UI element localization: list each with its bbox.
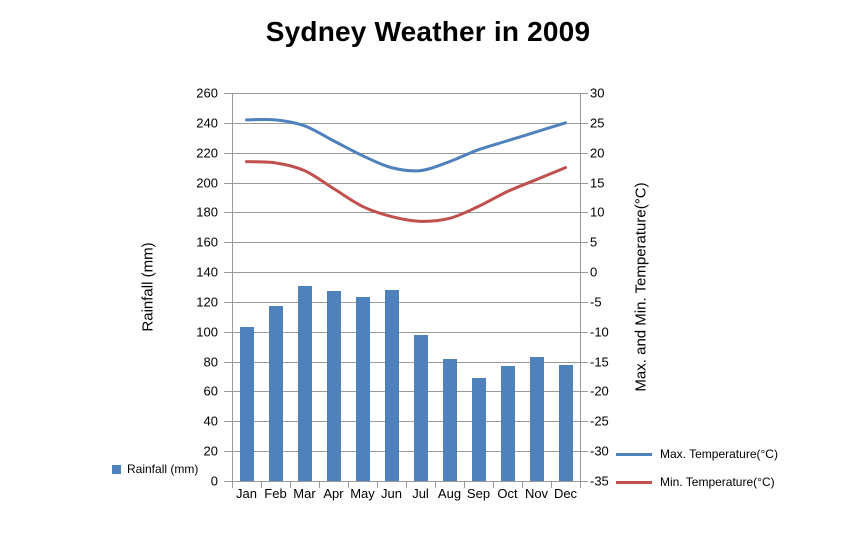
category-label: Jan xyxy=(236,486,257,501)
rainfall-bar[interactable] xyxy=(298,286,312,481)
right-axis-tick xyxy=(580,123,588,124)
right-axis-tick xyxy=(580,242,588,243)
right-axis-tick xyxy=(580,93,588,94)
right-axis-tick-label: 25 xyxy=(590,115,604,130)
right-axis-tick-label: -25 xyxy=(590,414,609,429)
left-axis-tick-label: 40 xyxy=(204,414,218,429)
category-label: Nov xyxy=(525,486,548,501)
right-axis-tick-label: -30 xyxy=(590,444,609,459)
category-tick xyxy=(406,481,407,488)
right-axis-tick xyxy=(580,153,588,154)
category-tick xyxy=(493,481,494,488)
right-axis-tick-label: 0 xyxy=(590,265,597,280)
left-axis-tick-label: 20 xyxy=(204,444,218,459)
grid-line xyxy=(232,421,580,422)
category-label: May xyxy=(350,486,375,501)
left-axis-tick xyxy=(224,272,232,273)
left-axis-tick-label: 220 xyxy=(196,145,218,160)
rainfall-bar[interactable] xyxy=(559,365,573,481)
category-label: Jul xyxy=(412,486,429,501)
right-axis-line xyxy=(580,93,581,482)
left-axis-tick xyxy=(224,391,232,392)
category-label: Sep xyxy=(467,486,490,501)
category-label: Aug xyxy=(438,486,461,501)
right-axis-tick xyxy=(580,421,588,422)
grid-line xyxy=(232,332,580,333)
legend-item-max-temperature[interactable]: Max. Temperature(°C) xyxy=(616,447,846,461)
category-tick xyxy=(348,481,349,488)
right-axis-tick-label: 5 xyxy=(590,235,597,250)
grid-line xyxy=(232,362,580,363)
grid-line xyxy=(232,93,580,94)
legend-max-temperature-label: Max. Temperature(°C) xyxy=(660,447,778,461)
grid-line xyxy=(232,212,580,213)
right-axis-tick xyxy=(580,451,588,452)
grid-line xyxy=(232,302,580,303)
rainfall-bar[interactable] xyxy=(385,290,399,481)
max-temperature-line-icon xyxy=(616,453,652,456)
grid-line xyxy=(232,242,580,243)
category-tick xyxy=(232,481,233,488)
right-axis-tick-label: -35 xyxy=(590,474,609,489)
category-label: Jun xyxy=(381,486,402,501)
category-label: Mar xyxy=(293,486,315,501)
right-axis-tick xyxy=(580,183,588,184)
left-axis-tick-label: 0 xyxy=(211,474,218,489)
right-axis-tick-label: -20 xyxy=(590,384,609,399)
grid-line xyxy=(232,391,580,392)
chart-canvas: Sydney Weather in 2009 02040608010012014… xyxy=(0,0,856,547)
rainfall-swatch-icon xyxy=(112,465,121,474)
category-tick xyxy=(551,481,552,488)
chart-title: Sydney Weather in 2009 xyxy=(0,16,856,48)
category-label: Apr xyxy=(323,486,343,501)
left-axis-tick xyxy=(224,481,232,482)
category-tick xyxy=(319,481,320,488)
left-axis-tick-label: 120 xyxy=(196,294,218,309)
right-axis-tick xyxy=(580,391,588,392)
grid-line xyxy=(232,451,580,452)
left-axis-tick-label: 140 xyxy=(196,265,218,280)
left-axis-tick xyxy=(224,93,232,94)
right-axis-tick xyxy=(580,272,588,273)
right-axis-tick-label: 15 xyxy=(590,175,604,190)
left-axis-tick-label: 60 xyxy=(204,384,218,399)
right-axis-tick-label: 10 xyxy=(590,205,604,220)
right-axis-tick xyxy=(580,302,588,303)
left-axis-tick xyxy=(224,123,232,124)
rainfall-bar[interactable] xyxy=(530,357,544,481)
left-axis-tick-label: 240 xyxy=(196,115,218,130)
grid-line xyxy=(232,183,580,184)
grid-line xyxy=(232,123,580,124)
left-axis-tick xyxy=(224,332,232,333)
grid-line xyxy=(232,272,580,273)
legend-min-temperature-label: Min. Temperature(°C) xyxy=(660,475,775,489)
left-axis-tick-label: 100 xyxy=(196,324,218,339)
right-axis-tick-label: -15 xyxy=(590,354,609,369)
category-label: Oct xyxy=(497,486,517,501)
plot-area xyxy=(232,93,580,481)
right-axis-tick-label: -5 xyxy=(590,294,602,309)
right-axis-tick-label: 30 xyxy=(590,86,604,101)
right-axis-tick-label: 20 xyxy=(590,145,604,160)
right-axis-title: Max. and Min. Temperature(°C) xyxy=(633,182,650,391)
left-axis-tick-label: 80 xyxy=(204,354,218,369)
category-tick xyxy=(261,481,262,488)
rainfall-bar[interactable] xyxy=(443,359,457,481)
right-axis-tick-label: -10 xyxy=(590,324,609,339)
rainfall-bar[interactable] xyxy=(327,291,341,481)
right-axis-tick xyxy=(580,212,588,213)
left-axis-tick-label: 260 xyxy=(196,86,218,101)
left-axis-tick xyxy=(224,451,232,452)
rainfall-bar[interactable] xyxy=(472,378,486,481)
legend-temperature: Max. Temperature(°C) Min. Temperature(°C… xyxy=(616,447,846,489)
category-tick xyxy=(464,481,465,488)
left-axis-tick-label: 160 xyxy=(196,235,218,250)
left-axis-tick xyxy=(224,183,232,184)
category-tick xyxy=(377,481,378,488)
left-axis-tick xyxy=(224,212,232,213)
right-axis-tick xyxy=(580,481,588,482)
category-tick xyxy=(522,481,523,488)
grid-line xyxy=(232,153,580,154)
category-tick xyxy=(290,481,291,488)
left-axis-tick-label: 180 xyxy=(196,205,218,220)
left-axis-tick-label: 200 xyxy=(196,175,218,190)
rainfall-bar[interactable] xyxy=(240,327,254,481)
category-label: Feb xyxy=(264,486,286,501)
legend-rainfall-label: Rainfall (mm) xyxy=(127,462,198,476)
rainfall-bar[interactable] xyxy=(356,297,370,481)
category-tick xyxy=(580,481,581,488)
legend-item-min-temperature[interactable]: Min. Temperature(°C) xyxy=(616,475,846,489)
left-axis-title: Rainfall (mm) xyxy=(140,242,157,331)
left-axis-tick xyxy=(224,421,232,422)
left-axis-tick xyxy=(224,302,232,303)
right-axis-tick xyxy=(580,362,588,363)
rainfall-bar[interactable] xyxy=(501,366,515,481)
left-axis-tick xyxy=(224,362,232,363)
category-tick xyxy=(435,481,436,488)
right-axis-tick xyxy=(580,332,588,333)
rainfall-bar[interactable] xyxy=(414,335,428,481)
rainfall-bar[interactable] xyxy=(269,306,283,481)
min-temperature-line-icon xyxy=(616,481,652,484)
left-axis-tick xyxy=(224,242,232,243)
category-label: Dec xyxy=(554,486,577,501)
left-axis-tick xyxy=(224,153,232,154)
legend-rainfall[interactable]: Rainfall (mm) xyxy=(112,462,198,476)
